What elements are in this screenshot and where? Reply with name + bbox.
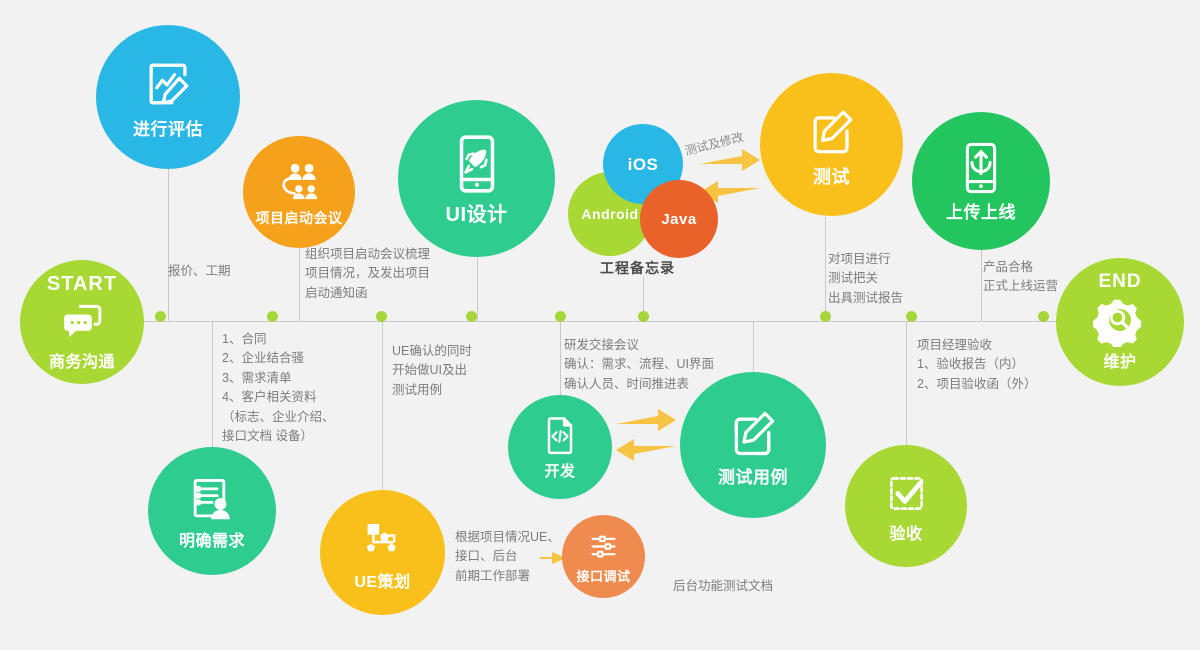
- node-bubble-accept[interactable]: 验收: [845, 445, 967, 567]
- note-online: 产品合格 正式上线运营: [983, 258, 1103, 297]
- node-label-accept: 验收: [889, 526, 922, 544]
- checklist-user-icon: [185, 472, 239, 531]
- note-ue: UE确认的同时 开始做UI及出 测试用例: [392, 342, 542, 400]
- node-bubble-ue[interactable]: UE策划: [320, 490, 445, 615]
- note-kickoff: 组织项目启动会议梳理 项目情况，及发出项目 启动通知函: [305, 245, 485, 303]
- connector-test: [825, 217, 826, 322]
- node-bubble-dev[interactable]: 开发: [508, 395, 612, 499]
- timeline-node-dot: [820, 311, 831, 322]
- node-label-testcase: 测试用例: [718, 469, 788, 488]
- timeline-node-dot: [376, 311, 387, 322]
- note-pencil-icon: [723, 402, 784, 468]
- timeline-node-dot: [1038, 311, 1049, 322]
- sitemap-icon: [356, 514, 409, 572]
- node-label-assess: 进行评估: [133, 121, 203, 140]
- chat-bubbles-icon: [56, 295, 108, 352]
- node-label-start: 商务沟通: [49, 354, 115, 372]
- connector-requirements: [212, 322, 213, 448]
- node-bubble-kickoff[interactable]: 项目启动会议: [243, 136, 355, 248]
- node-label-release: 上传上线: [946, 204, 1016, 223]
- note-test: 对项目进行 测试把关 出具测试报告: [828, 250, 968, 308]
- check-dashed-icon: [881, 468, 932, 524]
- node-bubble-requirements[interactable]: 明确需求: [148, 447, 276, 575]
- note-handover: 研发交接会议 确认：需求、流程、UI界面 确认人员、时间推进表: [564, 336, 784, 394]
- node-toplabel-start: START: [47, 273, 117, 295]
- connector-release: [981, 250, 982, 322]
- note-backend: 后台功能测试文档: [673, 577, 813, 596]
- timeline-node-dot: [906, 311, 917, 322]
- mobile-upload-icon: [952, 139, 1010, 202]
- node-bubble-assess[interactable]: 进行评估: [96, 25, 240, 169]
- node-label-ios: iOS: [628, 156, 659, 175]
- node-bubble-release[interactable]: 上传上线: [912, 112, 1050, 250]
- node-bubble-uidesign[interactable]: UI设计: [398, 100, 555, 257]
- connector-dev: [560, 322, 561, 398]
- node-label-ue: UE策划: [354, 574, 410, 592]
- connector-kickoff: [299, 248, 300, 322]
- note-quote: 报价、工期: [168, 262, 298, 281]
- mobile-rocket-icon: [444, 131, 510, 202]
- flowchart-canvas: START 商务沟通 进行评估 明确需求: [0, 0, 1200, 650]
- memo-title: 工程备忘录: [600, 258, 675, 278]
- node-bubble-java[interactable]: Java: [640, 180, 718, 258]
- node-label-end: 维护: [1103, 354, 1136, 372]
- code-file-icon: [538, 413, 582, 462]
- note-predeploy: 根据项目情况UE、 接口、后台 前期工作部署: [455, 528, 585, 586]
- node-label-java: Java: [661, 212, 696, 229]
- connector-accept: [906, 322, 907, 448]
- people-group-icon: [276, 158, 323, 210]
- connector-assess: [168, 168, 169, 322]
- arrow-label-test-fix: 测试及修改: [683, 128, 745, 159]
- arrow-dev-testcase: [616, 409, 676, 461]
- timeline-node-dot: [155, 311, 166, 322]
- timeline-node-dot: [555, 311, 566, 322]
- node-label-test: 测试: [813, 168, 850, 188]
- timeline-node-dot: [267, 311, 278, 322]
- report-edit-icon: [138, 54, 198, 119]
- node-label-requirements: 明确需求: [179, 533, 245, 551]
- timeline-node-dot: [638, 311, 649, 322]
- node-toplabel-end: END: [1098, 272, 1141, 293]
- sliders-icon: [586, 529, 621, 569]
- timeline-spine: [144, 321, 1062, 322]
- node-label-kickoff: 项目启动会议: [256, 211, 343, 226]
- timeline-node-dot: [466, 311, 477, 322]
- note-accept: 项目经理验收 1、验收报告（内） 2、项目验收函（外）: [917, 336, 1107, 394]
- note-pencil-icon: [802, 101, 862, 166]
- node-bubble-start[interactable]: START 商务沟通: [20, 260, 144, 384]
- node-label-dev: 开发: [544, 464, 575, 481]
- node-bubble-test[interactable]: 测试: [760, 73, 903, 216]
- note-contract: 1、合同 2、企业结合骚 3、需求清单 4、客户相关资料 （标志、企业介绍、 接…: [222, 330, 397, 446]
- node-label-uidesign: UI设计: [446, 204, 508, 226]
- node-label-android: Android: [581, 207, 638, 222]
